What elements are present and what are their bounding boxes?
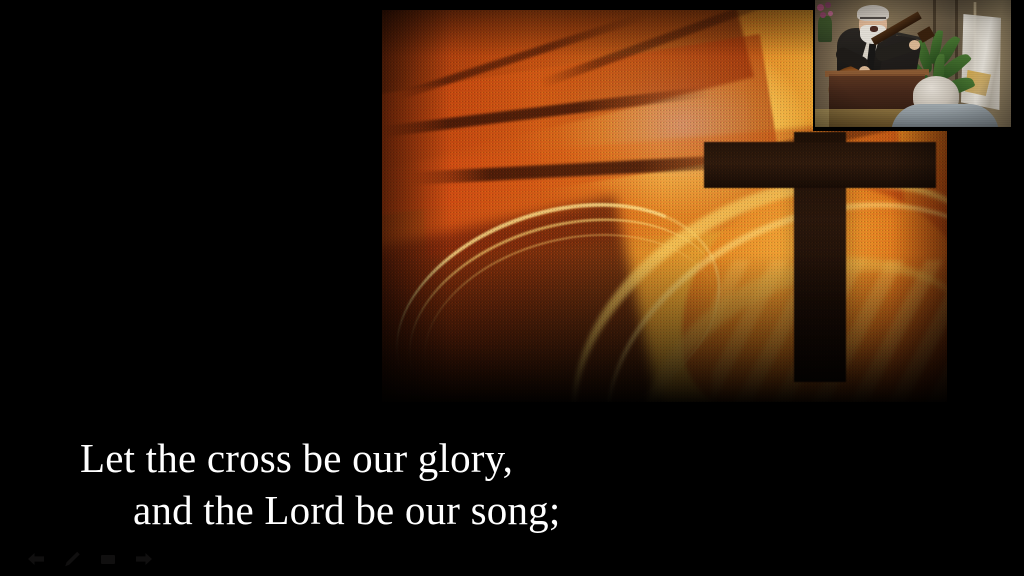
lyric-line-2: and the Lord be our song; xyxy=(0,484,1024,536)
lyric-text-block: Let the cross be our glory, and the Lord… xyxy=(0,432,1024,536)
pip-right-letterbox xyxy=(1011,0,1024,131)
pip-scanlines xyxy=(815,0,1012,127)
presentation-nav-toolbar[interactable] xyxy=(26,548,154,570)
presenter-video-inset[interactable] xyxy=(813,0,1024,131)
pip-video-frame xyxy=(815,0,1012,127)
slide-menu-icon xyxy=(99,552,117,566)
pen-annotate-button[interactable] xyxy=(62,550,82,568)
previous-slide-button[interactable] xyxy=(26,550,46,568)
arrow-right-icon xyxy=(135,552,153,566)
pip-bottom-letterbox xyxy=(813,127,1024,131)
slide-menu-button[interactable] xyxy=(98,550,118,568)
arrow-left-icon xyxy=(27,552,45,566)
pen-icon xyxy=(63,551,81,567)
presentation-screen: Let the cross be our glory, and the Lord… xyxy=(0,0,1024,576)
next-slide-button[interactable] xyxy=(134,550,154,568)
lyric-line-1: Let the cross be our glory, xyxy=(0,432,1024,484)
